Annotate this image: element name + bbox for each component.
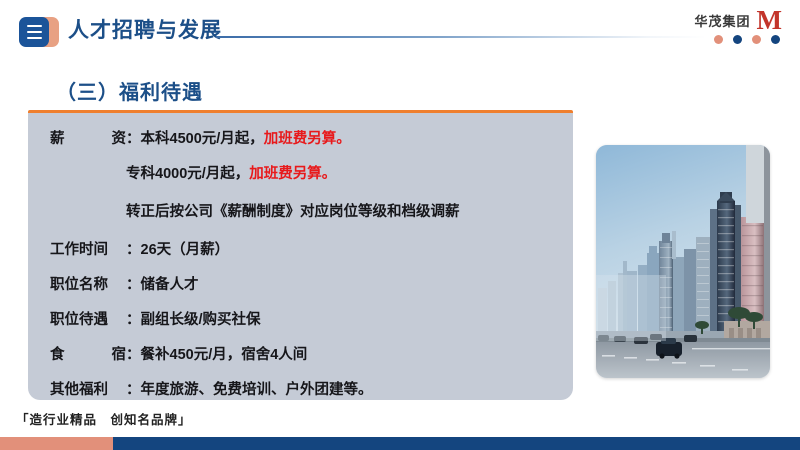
brand-name: 华茂集团: [695, 11, 751, 30]
section-title: （三）福利待遇: [56, 76, 203, 105]
benefit-label-char: 食: [50, 343, 65, 364]
benefit-value: 储备人才: [141, 273, 199, 294]
footer-bar: [0, 437, 800, 450]
slide: 人才招聘与发展 华茂集团 M （三）福利待遇 薪资：本科4500元/月起，加班费…: [0, 0, 800, 450]
cityscape-photo: [596, 145, 770, 378]
benefit-label: 职位待遇: [50, 308, 126, 329]
brand-dot-2: [733, 35, 742, 44]
page-title: 人才招聘与发展: [68, 14, 222, 44]
benefit-value: 年度旅游、免费培训、户外团建等。: [141, 378, 373, 399]
hamburger-icon[interactable]: [19, 17, 49, 47]
brand-dot-1: [714, 35, 723, 44]
benefit-colon: ：: [126, 308, 141, 329]
brand-dot-3: [752, 35, 761, 44]
hamburger-bar-2: [27, 31, 42, 33]
brand-dot-4: [771, 35, 780, 44]
benefit-value: 26天（月薪）: [141, 238, 230, 259]
benefit-value: 本科4500元/月起，: [141, 127, 264, 148]
benefit-label-char: 薪: [50, 127, 65, 148]
brand-dots: [714, 35, 780, 44]
benefit-label: 工作时间: [50, 238, 126, 259]
benefit-label-char: 资: [112, 127, 127, 148]
company-logo: 华茂集团 M: [662, 6, 782, 50]
benefit-row: 职位名称：储备人才: [50, 273, 559, 308]
benefit-value-highlight: 加班费另算。: [249, 162, 336, 183]
header-divider-line: [216, 36, 706, 38]
benefit-label-char: 宿: [112, 343, 127, 364]
benefit-row: 工作时间：26天（月薪）: [50, 238, 559, 273]
benefit-row: 专科4000元/月起，加班费另算。: [50, 162, 559, 200]
benefit-row: 食宿：餐补450元/月，宿舍4人间: [50, 343, 559, 378]
benefit-colon: ：: [126, 378, 141, 399]
benefit-label: 其他福利: [50, 378, 126, 399]
footer-slogan: 「造行业精品 创知名品牌」: [16, 409, 192, 428]
benefit-label: 食宿: [50, 343, 126, 364]
benefit-value-highlight: 加班费另算。: [264, 127, 351, 148]
brand-mark-icon: M: [757, 8, 782, 34]
brand-row: 华茂集团 M: [662, 8, 782, 34]
hamburger-bar-1: [27, 25, 42, 27]
benefits-list: 薪资：本科4500元/月起，加班费另算。专科4000元/月起，加班费另算。转正后…: [28, 113, 573, 400]
benefit-colon: ：: [126, 343, 141, 364]
benefit-colon: ：: [126, 127, 141, 148]
benefits-card: 薪资：本科4500元/月起，加班费另算。专科4000元/月起，加班费另算。转正后…: [28, 110, 573, 400]
benefit-row: 转正后按公司《薪酬制度》对应岗位等级和档级调薪: [50, 200, 559, 238]
benefit-label: 职位名称: [50, 273, 126, 294]
benefit-label: 薪资: [50, 127, 126, 148]
benefit-value: 副组长级/购买社保: [141, 308, 261, 329]
benefit-colon: ：: [126, 273, 141, 294]
footer-bar-right-segment: [113, 437, 800, 450]
benefit-row: 薪资：本科4500元/月起，加班费另算。: [50, 127, 559, 162]
footer-bar-left-segment: [0, 437, 113, 450]
header-menu-icon-group[interactable]: [19, 17, 63, 47]
benefit-value: 转正后按公司《薪酬制度》对应岗位等级和档级调薪: [126, 200, 460, 221]
cityscape-photo-graphic: [596, 145, 770, 378]
hamburger-bar-3: [27, 37, 42, 39]
benefit-colon: ：: [126, 238, 141, 259]
benefit-row: 其他福利：年度旅游、免费培训、户外团建等。: [50, 378, 559, 413]
benefit-value: 专科4000元/月起，: [126, 162, 249, 183]
benefit-row: 职位待遇：副组长级/购买社保: [50, 308, 559, 343]
benefit-value: 餐补450元/月，宿舍4人间: [141, 343, 308, 364]
